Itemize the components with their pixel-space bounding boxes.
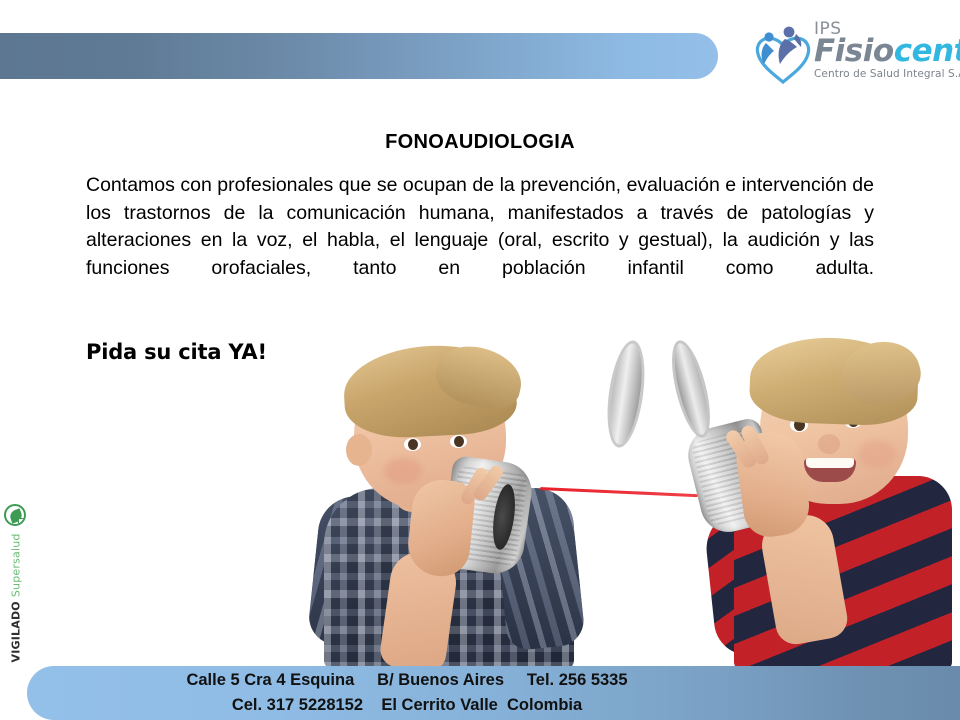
footer-phone-line: Cel. 317 5228152 El Cerrito Valle Colomb… (27, 693, 787, 718)
footer-contact-info: Calle 5 Cra 4 Esquina B/ Buenos Aires Te… (27, 668, 787, 718)
two-figures-heart-icon (752, 24, 816, 86)
vigilado-supersalud-mark: VIGILADO Supersalud (0, 500, 34, 660)
left-boy-eye-right (450, 435, 467, 448)
logo-name-part2: center (894, 33, 960, 69)
vigilado-label-soft: Supersalud (10, 533, 23, 597)
left-boy-ear (346, 434, 372, 466)
left-boy-tin-can-rim (602, 338, 651, 450)
boy-listening-with-tin-can (682, 336, 960, 670)
logo-tagline: Centro de Salud Integral S.A.S (814, 68, 954, 80)
slide-root: IPS Fisiocenter Centro de Salud Integral… (0, 0, 960, 720)
body-paragraph: Contamos con profesionales que se ocupan… (86, 172, 874, 310)
call-to-action-text: Pida su cita YA! (86, 340, 267, 364)
vigilado-label: VIGILADO Supersalud (10, 535, 23, 663)
photo-two-boys-tin-can-telephone (300, 330, 960, 670)
vigilado-label-strong: VIGILADO (10, 597, 23, 662)
boy-speaking-into-tin-can (318, 338, 638, 670)
left-boy-eye-left (404, 438, 421, 451)
page-title: FONOAUDIOLOGIA (0, 131, 960, 154)
right-boy-tin-can-rim (664, 337, 717, 441)
right-boy-cheek (858, 440, 896, 468)
supersalud-seal-icon (4, 504, 26, 526)
right-boy-nose (818, 434, 840, 454)
seal-notch-shape (18, 518, 26, 526)
logo-wordmark: IPS Fisiocenter Centro de Salud Integral… (814, 20, 954, 80)
header-accent-bar (0, 33, 718, 79)
footer-address-line: Calle 5 Cra 4 Esquina B/ Buenos Aires Te… (27, 668, 787, 693)
company-logo: IPS Fisiocenter Centro de Salud Integral… (752, 20, 952, 94)
logo-name: Fisiocenter (814, 36, 954, 67)
left-boy-cheek (384, 458, 422, 484)
logo-name-part1: Fisio (814, 33, 894, 69)
